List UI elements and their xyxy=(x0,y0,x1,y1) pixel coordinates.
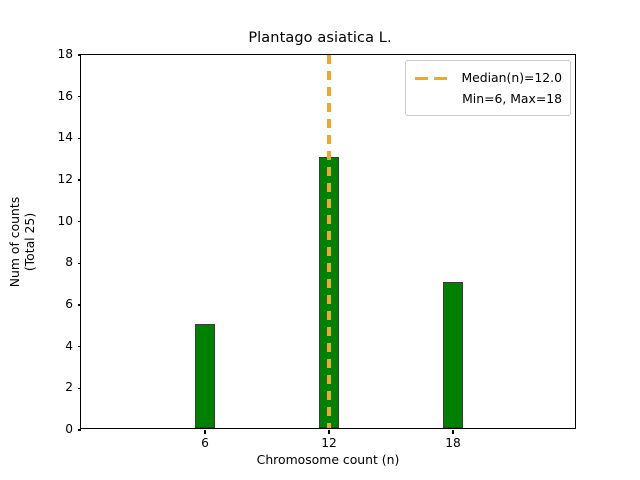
y-tick-mark xyxy=(78,429,82,430)
x-axis-label: Chromosome count (n) xyxy=(80,452,576,467)
legend-label-minmax: Min=6, Max=18 xyxy=(462,91,562,106)
y-axis-label-line1: Num of counts xyxy=(7,196,22,286)
y-tick-mark xyxy=(78,388,82,389)
y-tick-label: 8 xyxy=(65,255,73,269)
bar-chromosome-18[interactable] xyxy=(443,282,463,428)
y-tick-label: 4 xyxy=(65,339,73,353)
y-tick-mark xyxy=(78,304,82,305)
x-tick-label: 18 xyxy=(433,436,473,450)
x-tick-mark xyxy=(328,430,329,434)
x-tick-label: 6 xyxy=(185,436,225,450)
legend-entry-median: Median(n)=12.0 xyxy=(414,67,562,88)
y-tick-label: 2 xyxy=(65,380,73,394)
y-tick-mark xyxy=(78,138,82,139)
x-tick-mark xyxy=(204,430,205,434)
plot-area: 0 2 4 6 8 10 12 14 xyxy=(80,54,576,429)
y-axis-label: Num of counts (Total 25) xyxy=(0,54,44,429)
median-line xyxy=(327,55,331,428)
bar-chromosome-6[interactable] xyxy=(195,324,215,428)
y-tick-label: 6 xyxy=(65,297,73,311)
y-tick-mark xyxy=(78,221,82,222)
y-tick-label: 0 xyxy=(65,422,73,436)
legend-entry-minmax: Min=6, Max=18 xyxy=(414,88,562,109)
y-tick-label: 18 xyxy=(57,47,73,61)
y-tick-mark xyxy=(78,54,82,55)
y-axis-label-line2: (Total 25) xyxy=(22,196,37,286)
y-tick-label: 14 xyxy=(57,130,73,144)
legend-label-median: Median(n)=12.0 xyxy=(461,70,562,85)
chart-title: Plantago asiatica L. xyxy=(0,30,640,46)
legend: Median(n)=12.0 Min=6, Max=18 xyxy=(405,60,571,116)
y-tick-mark xyxy=(78,263,82,264)
y-tick-label: 12 xyxy=(57,172,73,186)
y-tick-mark xyxy=(78,346,82,347)
y-tick-label: 16 xyxy=(57,89,73,103)
x-tick-mark xyxy=(452,430,453,434)
y-tick-mark xyxy=(78,179,82,180)
y-tick-label: 10 xyxy=(57,214,73,228)
y-tick-mark xyxy=(78,96,82,97)
dashed-line-icon xyxy=(414,68,452,88)
x-tick-label: 12 xyxy=(309,436,349,450)
chart-figure: Plantago asiatica L. Num of counts (Tota… xyxy=(0,0,640,480)
